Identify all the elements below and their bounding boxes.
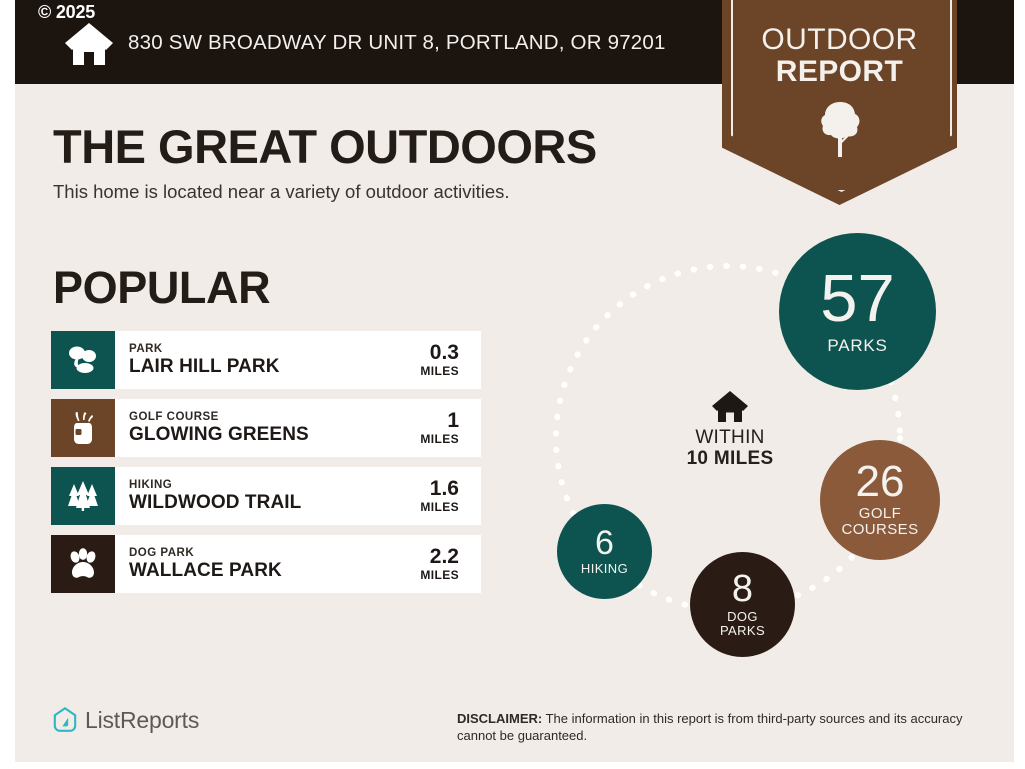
badge-title-line1: OUTDOOR xyxy=(722,24,957,56)
stat-label: GOLF COURSES xyxy=(842,506,919,538)
distance-unit: MILES xyxy=(420,432,459,447)
house-icon xyxy=(711,390,749,423)
disclaimer: DISCLAIMER: The information in this repo… xyxy=(457,710,977,744)
list-item-category: PARK xyxy=(129,342,420,356)
list-item-category: DOG PARK xyxy=(129,546,420,560)
diagram-center-label: WITHIN 10 MILES xyxy=(670,390,790,469)
listreports-logo[interactable]: ListReports xyxy=(52,706,199,734)
page-title: THE GREAT OUTDOORS xyxy=(53,119,597,174)
list-item-text: PARK LAIR HILL PARK xyxy=(115,342,420,378)
disclaimer-label: DISCLAIMER: xyxy=(457,711,542,726)
list-item[interactable]: HIKING WILDWOOD TRAIL 1.6 MILES xyxy=(51,467,481,525)
stat-bubble-parks[interactable]: 57 PARKS xyxy=(779,233,936,390)
outdoor-report-page: © 2025 830 SW BROADWAY DR UNIT 8, PORTLA… xyxy=(0,0,1025,769)
pine-trees-icon xyxy=(51,467,115,525)
stat-value: 8 xyxy=(732,572,753,606)
distance-unit: MILES xyxy=(420,364,459,379)
park-trees-icon xyxy=(51,331,115,389)
list-item-name: WILDWOOD TRAIL xyxy=(129,492,420,514)
listreports-wordmark: ListReports xyxy=(85,707,199,734)
center-label-line1: WITHIN xyxy=(670,427,790,448)
list-item-name: WALLACE PARK xyxy=(129,560,420,582)
list-item-distance: 0.3 MILES xyxy=(420,342,481,379)
list-item-name: GLOWING GREENS xyxy=(129,424,420,446)
stat-label: DOG PARKS xyxy=(720,610,765,638)
stat-label-line1: GOLF xyxy=(842,506,919,522)
list-item[interactable]: GOLF COURSE GLOWING GREENS 1 MILES xyxy=(51,399,481,457)
golf-bag-icon xyxy=(51,399,115,457)
stat-value: 6 xyxy=(595,528,614,558)
badge-title: OUTDOOR REPORT xyxy=(722,24,957,88)
page-margin-right xyxy=(1014,0,1025,769)
address-label: 830 SW BROADWAY DR UNIT 8, PORTLAND, OR … xyxy=(128,31,666,55)
stat-label-line1: DOG xyxy=(720,610,765,624)
stat-label: PARKS xyxy=(827,336,887,356)
list-item-category: GOLF COURSE xyxy=(129,410,420,424)
popular-list: PARK LAIR HILL PARK 0.3 MILES GOLF COURS… xyxy=(51,331,481,603)
center-label-line2: 10 MILES xyxy=(670,448,790,469)
list-item-distance: 1.6 MILES xyxy=(420,478,481,515)
stat-label-line2: COURSES xyxy=(842,522,919,538)
stat-bubble-dog-parks[interactable]: 8 DOG PARKS xyxy=(690,552,795,657)
distance-value: 1 xyxy=(420,410,459,432)
page-margin-bottom xyxy=(0,762,1025,769)
stat-label: HIKING xyxy=(581,561,628,576)
stat-value: 26 xyxy=(856,462,905,502)
page-subtitle: This home is located near a variety of o… xyxy=(53,181,510,203)
list-item[interactable]: DOG PARK WALLACE PARK 2.2 MILES xyxy=(51,535,481,593)
page-margin-left xyxy=(0,0,15,769)
list-item-text: DOG PARK WALLACE PARK xyxy=(115,546,420,582)
tree-icon xyxy=(818,100,862,158)
list-item[interactable]: PARK LAIR HILL PARK 0.3 MILES xyxy=(51,331,481,389)
copyright-label: © 2025 xyxy=(38,2,95,23)
section-title-popular: POPULAR xyxy=(53,262,270,314)
paw-print-icon xyxy=(51,535,115,593)
list-item-category: HIKING xyxy=(129,478,420,492)
list-item-text: HIKING WILDWOOD TRAIL xyxy=(115,478,420,514)
stat-bubble-hiking[interactable]: 6 HIKING xyxy=(557,504,652,599)
badge-title-line2: REPORT xyxy=(722,56,957,88)
distance-unit: MILES xyxy=(420,568,459,583)
list-item-distance: 1 MILES xyxy=(420,410,481,447)
list-item-name: LAIR HILL PARK xyxy=(129,356,420,378)
stat-label-line2: PARKS xyxy=(720,624,765,638)
house-icon xyxy=(63,21,115,66)
listreports-house-pin-icon xyxy=(52,706,78,734)
distance-value: 1.6 xyxy=(420,478,459,500)
list-item-text: GOLF COURSE GLOWING GREENS xyxy=(115,410,420,446)
distance-value: 0.3 xyxy=(420,342,459,364)
distance-unit: MILES xyxy=(420,500,459,515)
distance-value: 2.2 xyxy=(420,546,459,568)
within-10-miles-diagram: WITHIN 10 MILES 57 PARKS 26 GOLF COURSES… xyxy=(520,215,990,655)
stat-bubble-golf-courses[interactable]: 26 GOLF COURSES xyxy=(820,440,940,560)
list-item-distance: 2.2 MILES xyxy=(420,546,481,583)
stat-value: 57 xyxy=(820,268,895,330)
